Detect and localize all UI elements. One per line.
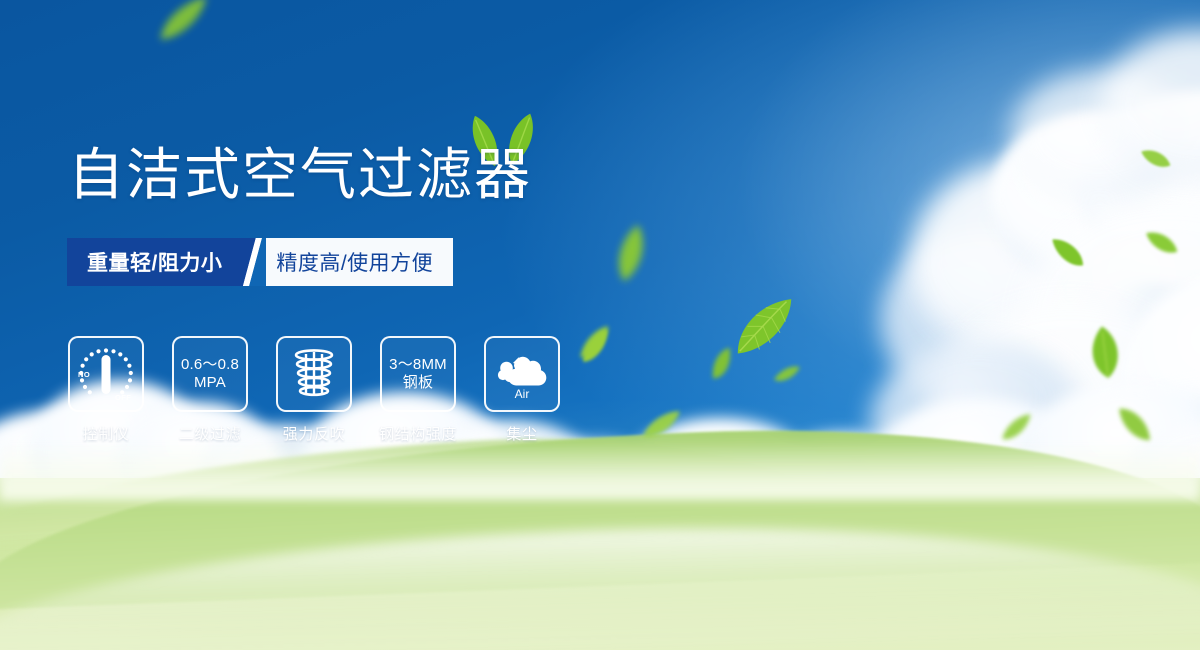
leaf-icon [573,327,618,368]
subtitle-left: 重量轻/阻力小 [67,238,240,286]
leaf-icon [149,0,220,47]
pressure-line-2: MPA [181,374,239,392]
svg-text:OFF: OFF [115,393,131,402]
coil-spiral-icon [276,336,352,412]
leaf-icon [771,363,804,385]
feature-list: NO OFF 控制仪 0.6～0.8 MPA 二级过滤 [68,336,560,444]
cloud-air-icon: Air [484,336,560,412]
leaf-icon [719,279,807,371]
control-dial-icon: NO OFF [68,336,144,412]
feature-item-steel[interactable]: 3～8MM 钢板 钢结构强度 [380,336,456,444]
subtitle-right: 精度高/使用方便 [266,238,453,286]
leaf-icon [1043,229,1094,276]
product-banner: 自洁式空气过滤器 重量轻/阻力小 精度高/使用方便 [0,0,1200,650]
steel-line-2: 钢板 [389,374,447,392]
page-title: 自洁式空气过滤器 [68,147,532,203]
feature-item-backblow[interactable]: 强力反吹 [276,336,352,444]
feature-item-dust[interactable]: Air 集尘 [484,336,560,444]
leaf-icon [608,219,654,287]
cloud-large-right [870,90,1200,490]
feature-label: 钢结构强度 [379,423,457,444]
leaf-icon [1139,222,1185,261]
svg-text:NO: NO [78,370,90,379]
feature-label: 二级过滤 [179,423,241,444]
pressure-text-icon: 0.6～0.8 MPA [172,336,248,412]
svg-text:Air: Air [515,387,530,401]
subtitle-bar: 重量轻/阻力小 精度高/使用方便 [67,238,453,286]
feature-label: 控制仪 [83,423,130,444]
feature-label: 强力反吹 [283,423,345,444]
cloud-large-right-upper [1010,20,1200,180]
leaf-icon [701,344,743,384]
sky-glow [0,0,1200,650]
steel-line-1: 3～8MM [389,356,447,374]
grass-path-highlight [0,514,1200,650]
leaf-icon [571,323,618,363]
feature-item-pressure[interactable]: 0.6～0.8 MPA 二级过滤 [172,336,248,444]
feature-label: 集尘 [506,423,537,444]
steel-plate-text-icon: 3～8MM 钢板 [380,336,456,412]
pressure-line-1: 0.6～0.8 [181,356,239,374]
feature-item-control[interactable]: NO OFF 控制仪 [68,336,144,444]
grass-horizon-haze [0,440,1200,500]
leaf-icon [1074,319,1133,386]
subtitle-divider [240,238,266,286]
leaf-icon [638,408,686,441]
leaf-icon [1135,142,1176,175]
grass-field [0,478,1200,650]
